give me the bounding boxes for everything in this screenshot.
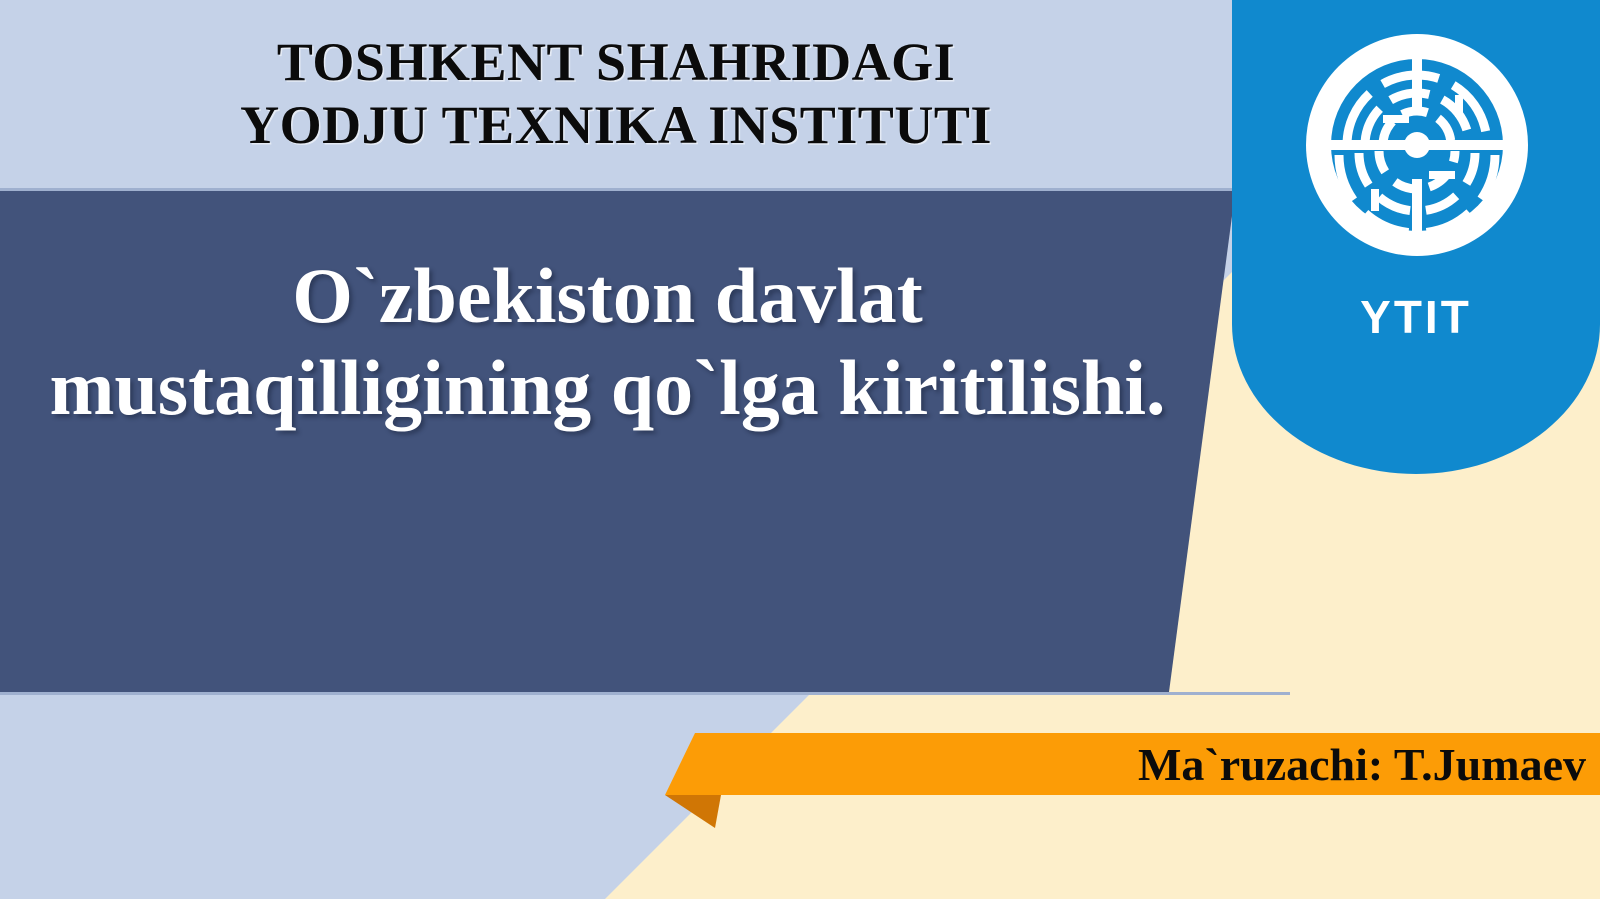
institution-name-line-2: YODJU TEXNIKA INSTITUTI [240,94,992,157]
slide-title: O`zbekiston davlat mustaqilligining qo`l… [0,250,1215,434]
footer-divider-rule [0,692,1290,695]
presenter-name: Ma`ruzachi: T.Jumaev [645,733,1600,795]
institution-header: TOSHKENT SHAHRIDAGI YODJU TEXNIKA INSTIT… [0,0,1232,188]
presenter-ribbon: Ma`ruzachi: T.Jumaev [645,733,1600,795]
globe-target-emblem-icon [1306,34,1528,256]
presentation-slide: TOSHKENT SHAHRIDAGI YODJU TEXNIKA INSTIT… [0,0,1600,899]
header-divider-rule [0,188,1232,191]
logo-abbreviation: YTIT [1232,290,1600,344]
institution-name-line-1: TOSHKENT SHAHRIDAGI [277,31,955,94]
ytit-logo-shield: YTIT [1232,0,1600,474]
